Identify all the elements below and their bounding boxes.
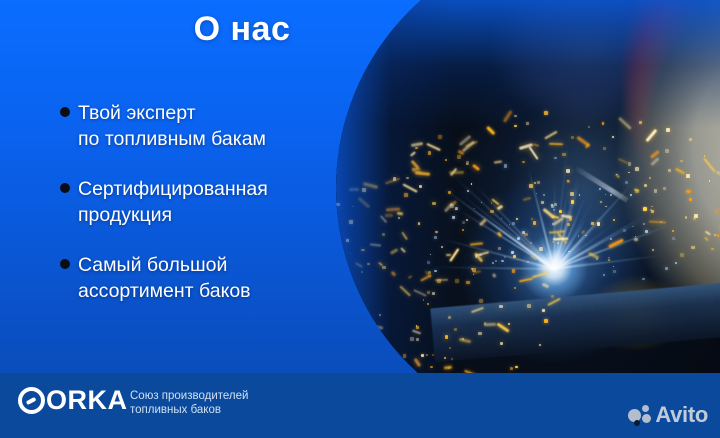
avito-watermark: Avito xyxy=(628,404,708,426)
about-us-banner: О нас Твой эксперт по топливным бакам Се… xyxy=(0,0,720,438)
orka-ring-icon xyxy=(18,387,45,414)
avito-dots-icon xyxy=(628,405,651,426)
list-item-label: Твой эксперт по топливным бакам xyxy=(78,102,266,150)
brand-name: ORKA xyxy=(46,387,128,414)
list-item-label: Сертифицированная продукция xyxy=(78,178,268,226)
bullet-dot-icon xyxy=(60,259,70,269)
feature-list: Твой эксперт по топливным бакам Сертифиц… xyxy=(60,100,390,328)
list-item: Сертифицированная продукция xyxy=(60,176,390,228)
brand-tagline: Союз производителей топливных баков xyxy=(130,389,248,417)
page-title: О нас xyxy=(0,12,484,46)
list-item: Самый большой ассортимент баков xyxy=(60,252,390,304)
avito-wordmark: Avito xyxy=(655,404,708,426)
list-item-label: Самый большой ассортимент баков xyxy=(78,254,251,302)
footer-bar: ORKA Союз производителей топливных баков xyxy=(0,373,720,438)
bullet-dot-icon xyxy=(60,107,70,117)
list-item: Твой эксперт по топливным бакам xyxy=(60,100,390,152)
brand-logo: ORKA xyxy=(18,387,128,414)
bullet-dot-icon xyxy=(60,183,70,193)
